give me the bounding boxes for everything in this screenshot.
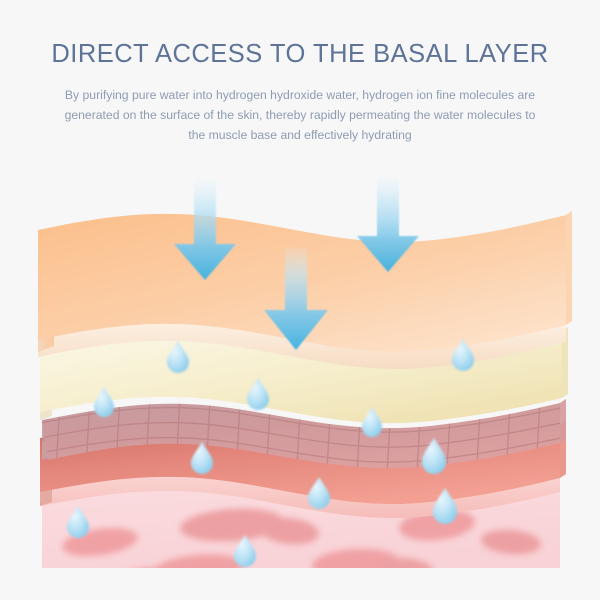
page-subtitle: By purifying pure water into hydrogen hy… xyxy=(59,69,541,145)
header-block: DIRECT ACCESS TO THE BASAL LAYER By puri… xyxy=(0,0,600,146)
infographic-root: DIRECT ACCESS TO THE BASAL LAYER By puri… xyxy=(0,0,600,600)
page-title: DIRECT ACCESS TO THE BASAL LAYER xyxy=(0,0,600,69)
skin-layers-illustration xyxy=(0,170,600,600)
